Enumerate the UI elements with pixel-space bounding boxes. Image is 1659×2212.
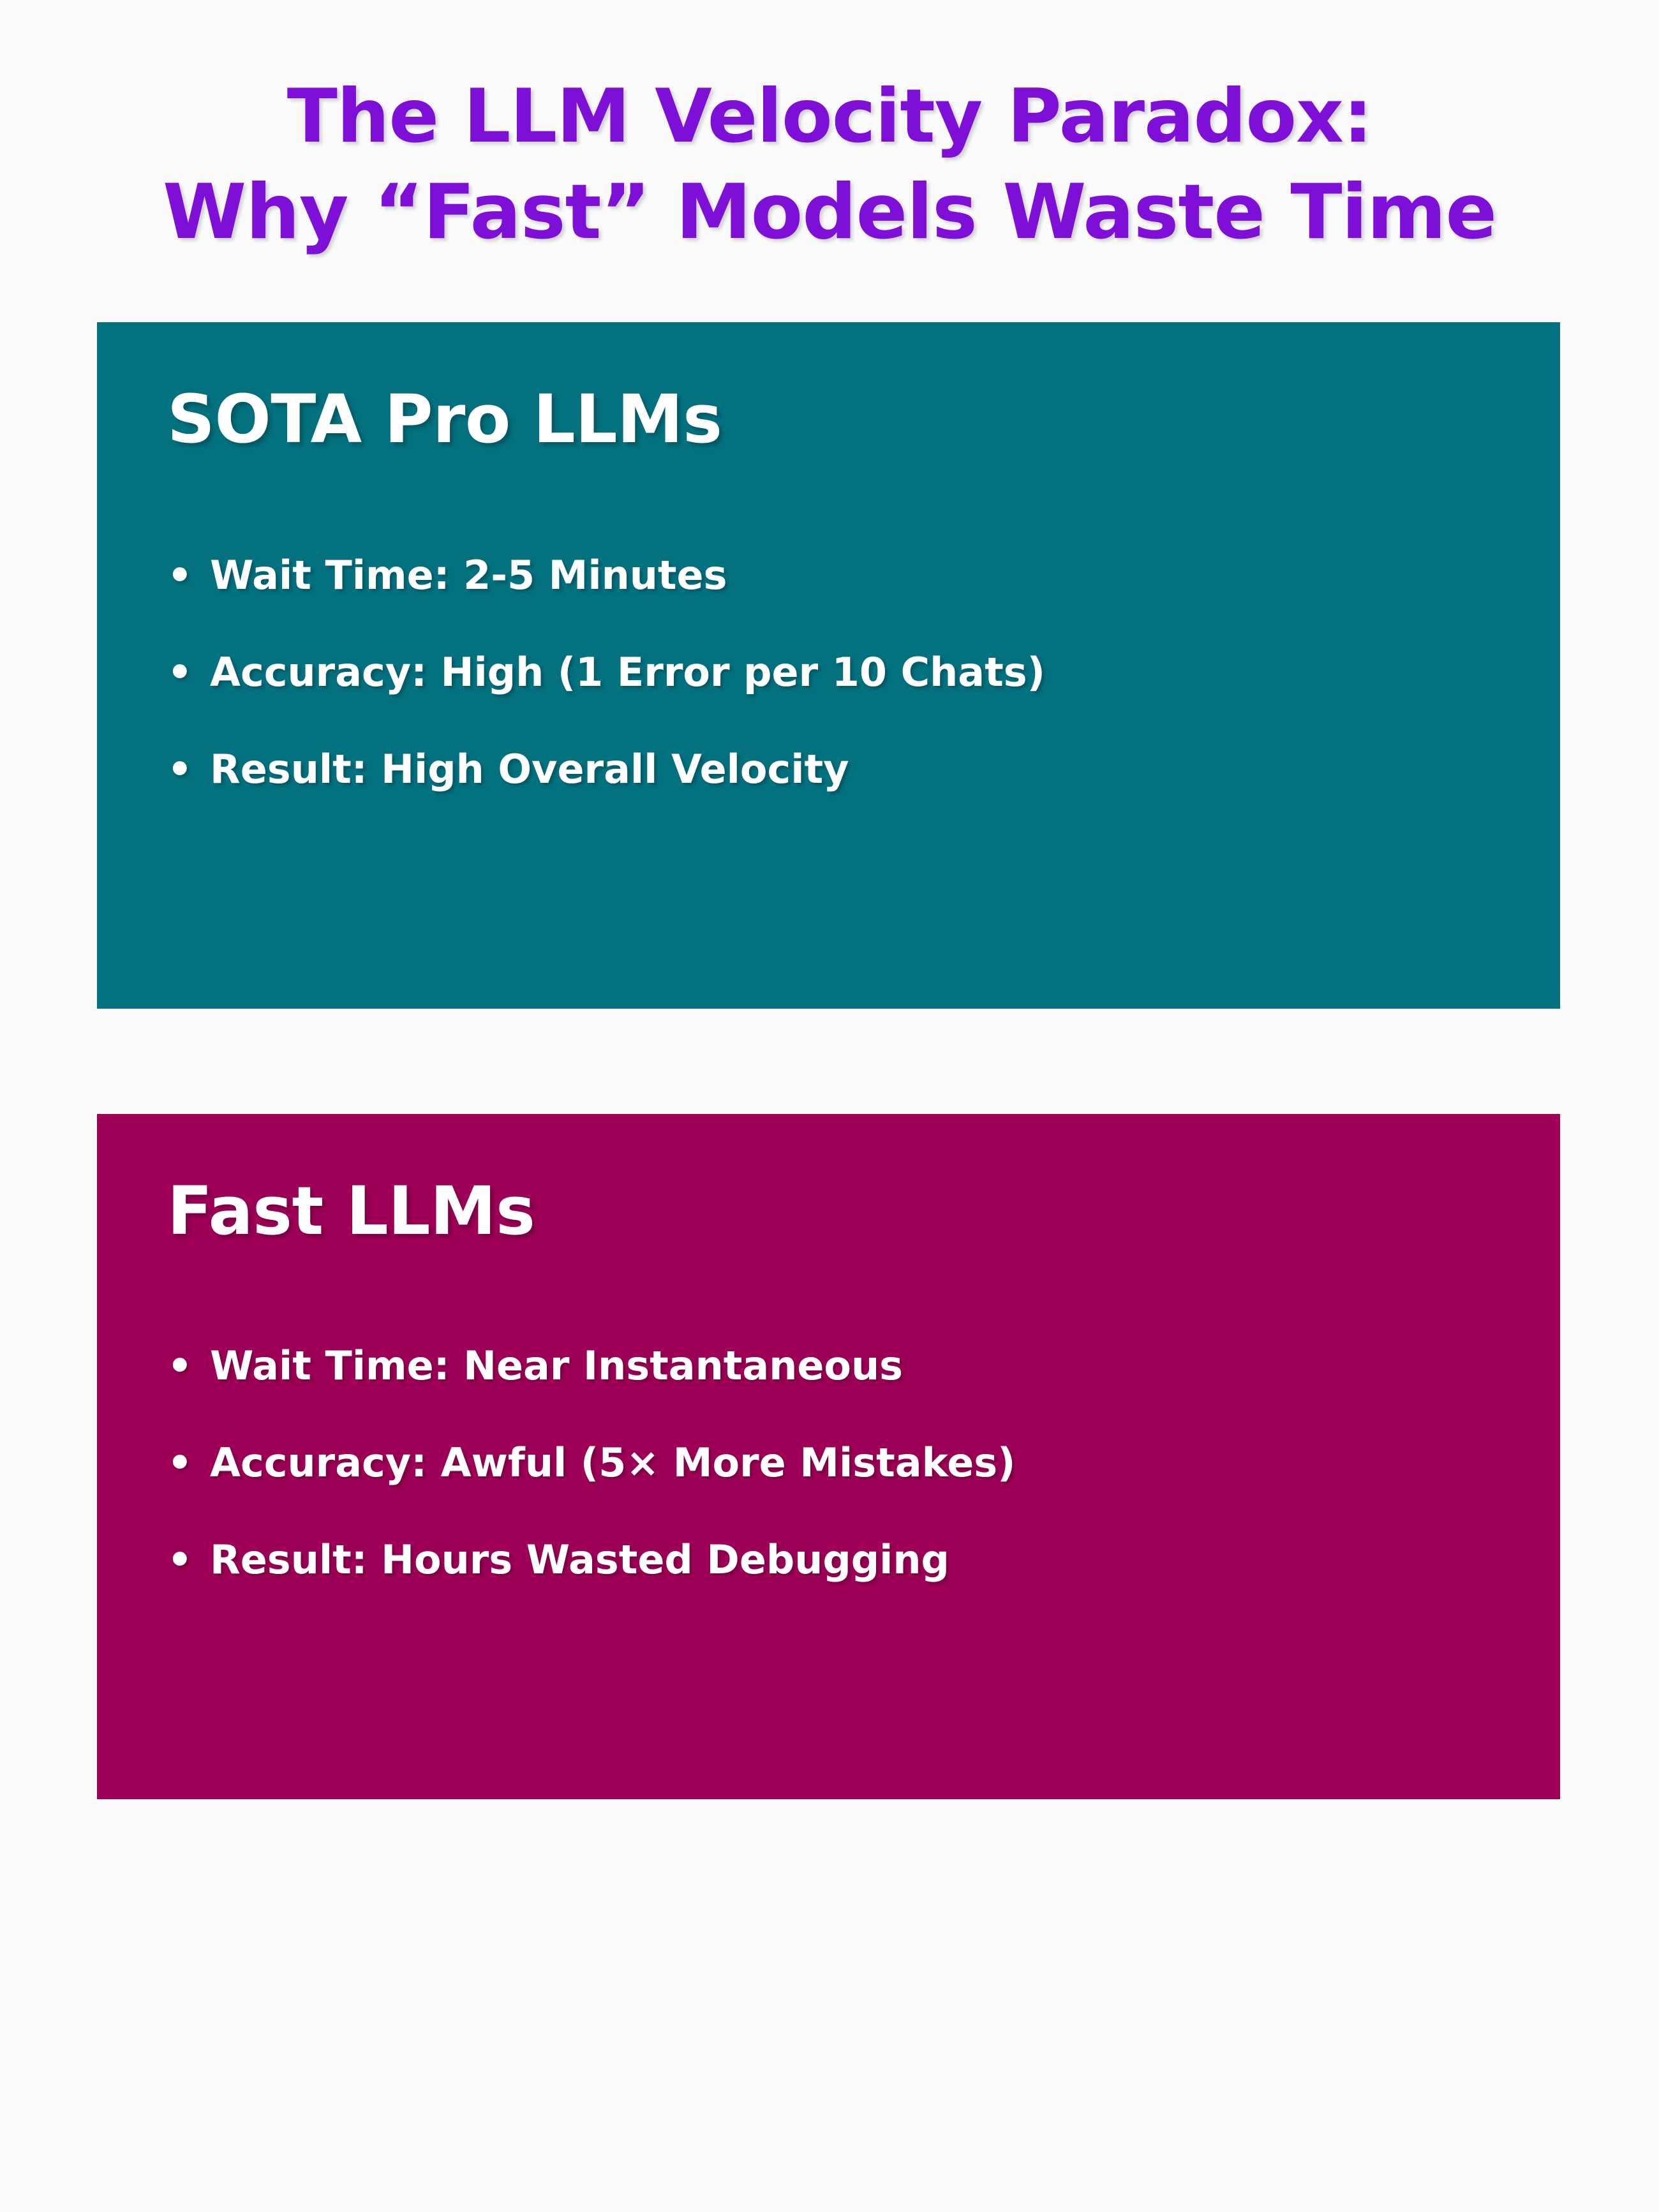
page-title: The LLM Velocity Paradox: Why “Fast” Mod… — [0, 69, 1659, 260]
card-sota-pro-llms: SOTA Pro LLMs • Wait Time: 2-5 Minutes •… — [97, 322, 1560, 1009]
list-item: • Result: Hours Wasted Debugging — [167, 1535, 1490, 1585]
bullet-dot-icon: • — [167, 1438, 210, 1488]
bullet-text: Wait Time: 2-5 Minutes — [210, 551, 727, 600]
bullet-list-fast-llms: • Wait Time: Near Instantaneous • Accura… — [167, 1341, 1490, 1585]
card-heading-fast-llms: Fast LLMs — [167, 1175, 1490, 1247]
bullet-dot-icon: • — [167, 1535, 210, 1585]
bullet-list-sota-pro-llms: • Wait Time: 2-5 Minutes • Accuracy: Hig… — [167, 551, 1490, 794]
bullet-dot-icon: • — [167, 745, 210, 794]
bullet-text: Result: High Overall Velocity — [210, 745, 849, 794]
bullet-dot-icon: • — [167, 551, 210, 600]
bullet-dot-icon: • — [167, 648, 210, 697]
card-heading-sota-pro-llms: SOTA Pro LLMs — [167, 383, 1490, 455]
list-item: • Result: High Overall Velocity — [167, 745, 1490, 794]
bullet-text: Result: Hours Wasted Debugging — [210, 1535, 949, 1585]
list-item: • Wait Time: 2-5 Minutes — [167, 551, 1490, 600]
bullet-dot-icon: • — [167, 1341, 210, 1391]
list-item: • Accuracy: Awful (5× More Mistakes) — [167, 1438, 1490, 1488]
bullet-text: Accuracy: Awful (5× More Mistakes) — [210, 1438, 1016, 1488]
bullet-text: Wait Time: Near Instantaneous — [210, 1341, 903, 1391]
list-item: • Wait Time: Near Instantaneous — [167, 1341, 1490, 1391]
slide-canvas: The LLM Velocity Paradox: Why “Fast” Mod… — [0, 0, 1659, 2212]
bullet-text: Accuracy: High (1 Error per 10 Chats) — [210, 648, 1045, 697]
card-fast-llms: Fast LLMs • Wait Time: Near Instantaneou… — [97, 1114, 1560, 1799]
list-item: • Accuracy: High (1 Error per 10 Chats) — [167, 648, 1490, 697]
page-title-line-2: Why “Fast” Models Waste Time — [0, 165, 1659, 260]
page-title-line-1: The LLM Velocity Paradox: — [0, 69, 1659, 165]
